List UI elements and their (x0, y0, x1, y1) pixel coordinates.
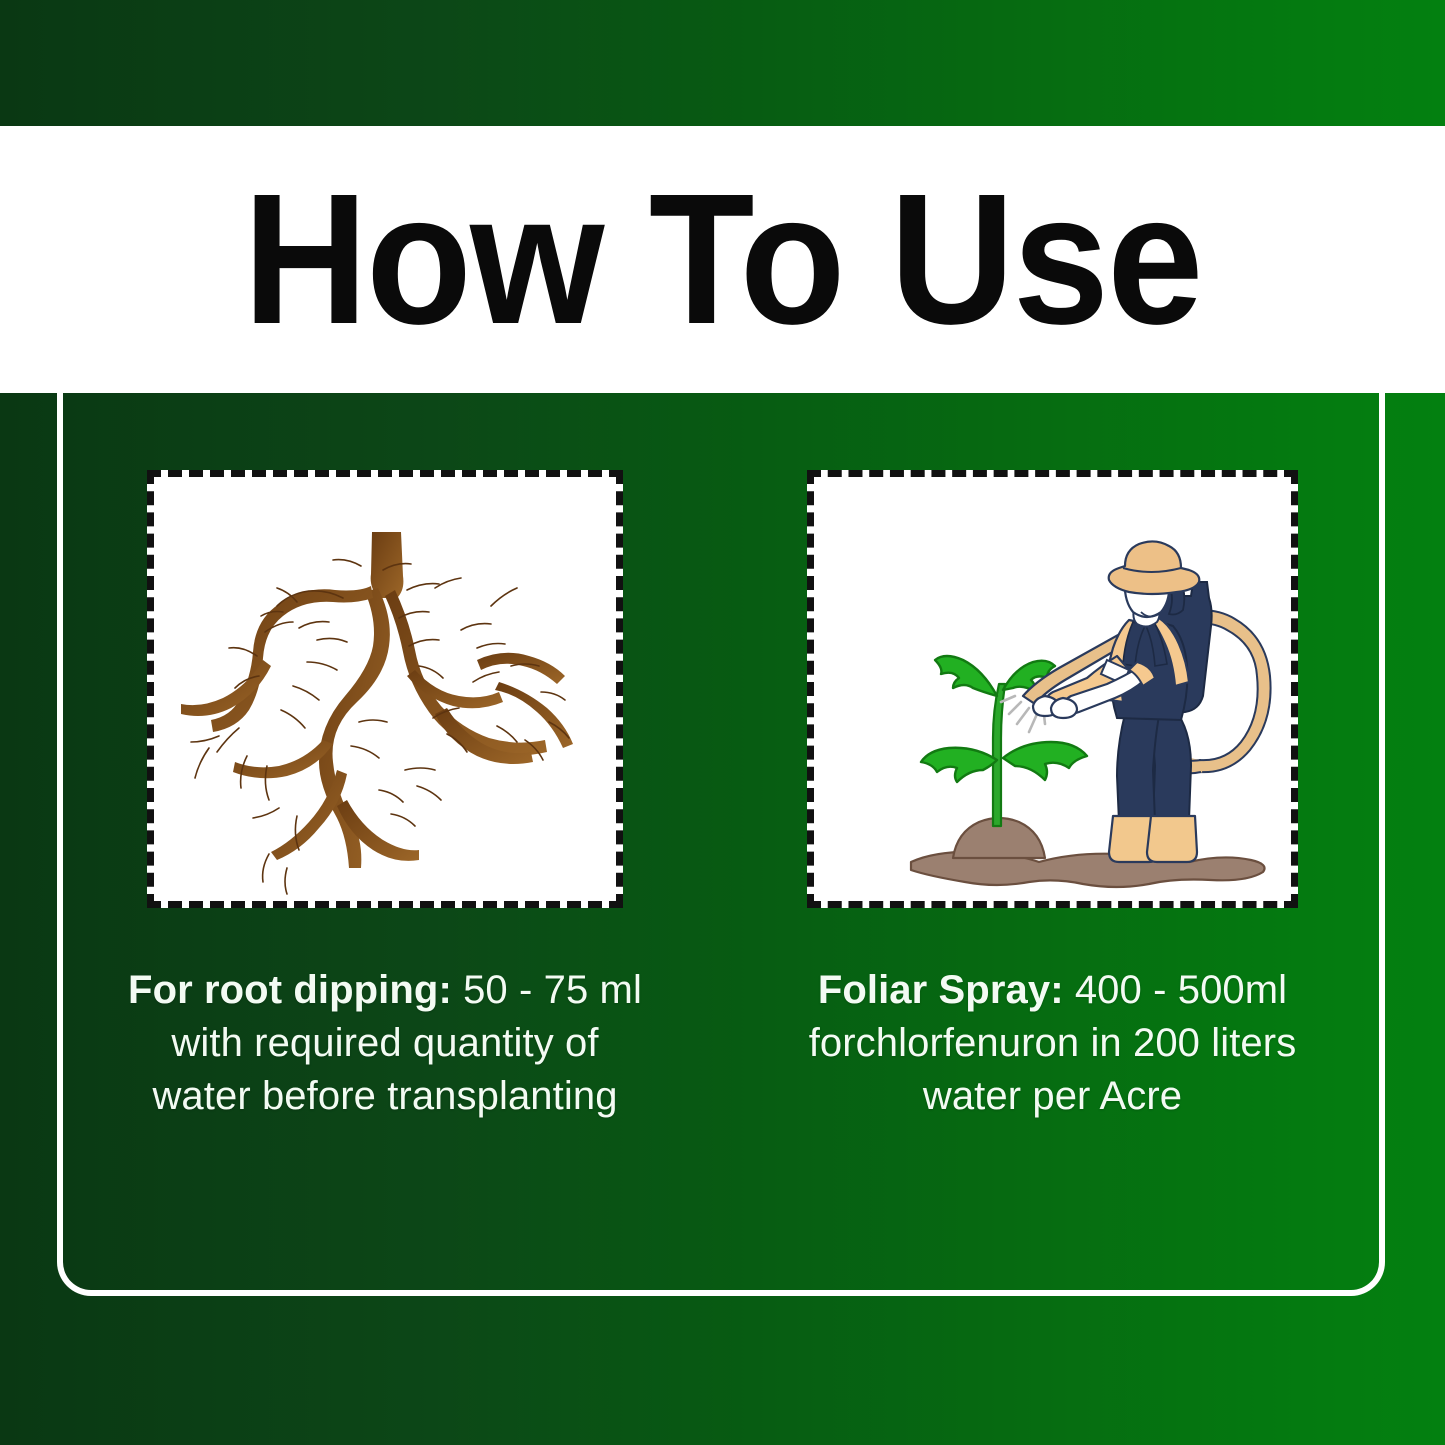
top-green-band (0, 0, 1445, 126)
farmer-spraying-card (807, 470, 1298, 908)
header-strip: How To Use (0, 126, 1445, 393)
caption-root-dipping-label: For root dipping: (128, 968, 452, 1012)
panel-root-dipping: For root dipping: 50 - 75 ml with requir… (120, 470, 650, 1124)
panels-container: For root dipping: 50 - 75 ml with requir… (120, 470, 1325, 1124)
caption-foliar-spray: Foliar Spray: 400 - 500ml forchlorfenuro… (793, 964, 1313, 1124)
how-to-use-poster: How To Use (0, 0, 1445, 1445)
root-system-illustration (147, 470, 623, 908)
farmer-spraying-plant-illustration (807, 470, 1298, 908)
page-title: How To Use (243, 167, 1201, 353)
root-system-card (147, 470, 623, 908)
panel-foliar-spray: Foliar Spray: 400 - 500ml forchlorfenuro… (780, 470, 1325, 1124)
caption-foliar-spray-label: Foliar Spray: (818, 968, 1064, 1012)
caption-root-dipping: For root dipping: 50 - 75 ml with requir… (125, 964, 645, 1124)
